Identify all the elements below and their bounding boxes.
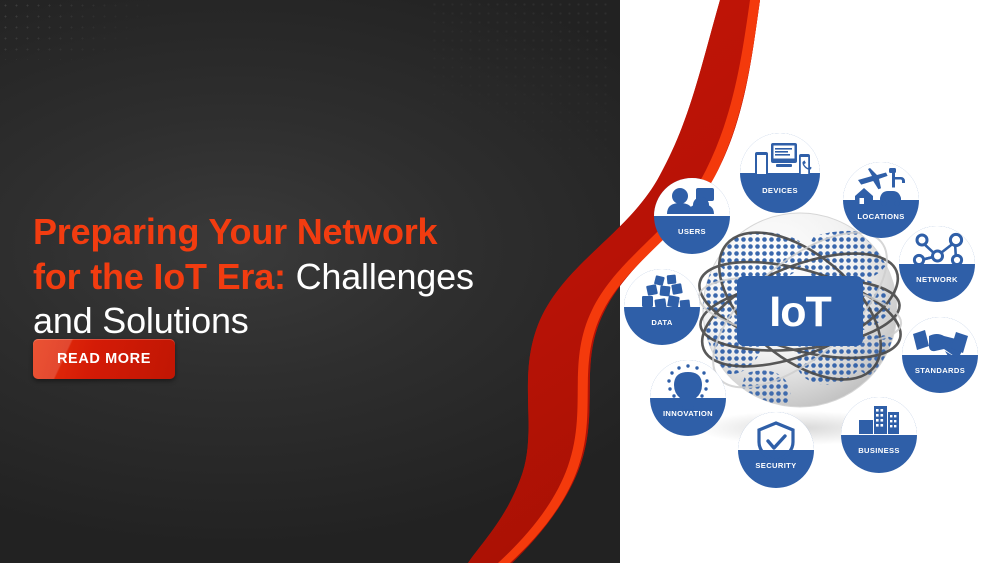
- badge-label-locations: LOCATIONS: [857, 212, 904, 221]
- headline-line-3: and Solutions: [33, 299, 563, 343]
- headline-accent-1: Preparing Your Network: [33, 211, 437, 252]
- iot-ecosystem-diagram: IoT DEVICES: [600, 110, 1000, 510]
- badge-label-business: BUSINESS: [858, 446, 900, 455]
- badge-users[interactable]: USERS: [654, 178, 730, 254]
- iot-blog-banner: Preparing Your Network for the IoT Era: …: [0, 0, 1000, 563]
- badge-data[interactable]: DATA: [624, 269, 700, 345]
- badge-label-network: NETWORK: [916, 275, 958, 284]
- badge-business[interactable]: BUSINESS: [841, 397, 917, 473]
- headline-line-1: Preparing Your Network: [33, 210, 563, 254]
- badge-devices[interactable]: DEVICES: [740, 133, 820, 213]
- headline-plain-3: and Solutions: [33, 300, 249, 341]
- badge-label-standards: STANDARDS: [915, 366, 965, 375]
- badge-innovation[interactable]: INNOVATION: [650, 360, 726, 436]
- badge-label-data: DATA: [651, 318, 673, 327]
- headline-line-2: for the IoT Era: Challenges: [33, 255, 563, 299]
- badge-standards[interactable]: STANDARDS: [902, 317, 978, 393]
- badge-locations[interactable]: LOCATIONS: [843, 162, 919, 238]
- badge-security[interactable]: SECURITY: [738, 412, 814, 488]
- iot-center-label: IoT: [769, 288, 831, 336]
- headline-accent-2: for the IoT Era:: [33, 256, 286, 297]
- read-more-button[interactable]: READ MORE: [33, 339, 175, 379]
- badge-label-security: SECURITY: [755, 461, 796, 470]
- read-more-label: READ MORE: [57, 351, 151, 367]
- page-title: Preparing Your Network for the IoT Era: …: [33, 210, 563, 343]
- headline-plain-2: Challenges: [286, 256, 474, 297]
- iot-center-plate: IoT: [737, 276, 863, 346]
- badge-label-users: USERS: [678, 227, 706, 236]
- badge-network[interactable]: NETWORK: [899, 226, 975, 302]
- badge-label-devices: DEVICES: [762, 186, 798, 195]
- badge-label-innovation: INNOVATION: [663, 409, 713, 418]
